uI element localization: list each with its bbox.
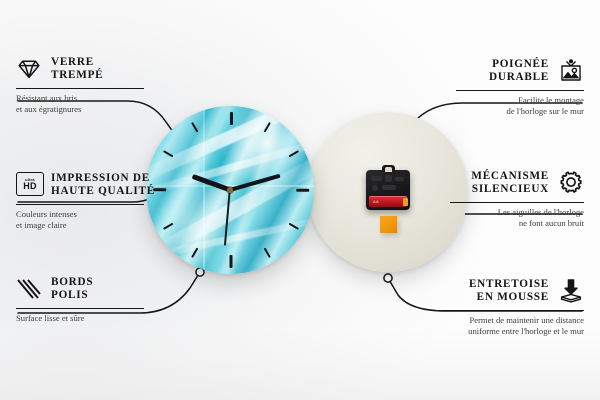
picture-hanger-icon (558, 58, 584, 84)
feature-sub-line1: Les aiguilles de l'horloge (450, 207, 584, 217)
feature-title-line1: MÉCANISME (471, 170, 549, 183)
feature-sub-line1: Facilite le montage (456, 95, 584, 105)
feature-title-line2: SILENCIEUX (471, 183, 549, 196)
feature-bords-polis: BORDS POLIS Surface lisse et sûre (16, 276, 144, 324)
feature-title-line2: TREMPÉ (51, 69, 103, 82)
feature-sub-line2: uniforme entre l'horloge et le mur (436, 326, 584, 336)
feature-rule (16, 204, 144, 205)
infographic-canvas: AA VERRE TREMPÉ Résistant aux bris et au… (0, 0, 600, 400)
feature-sub-line1: Surface lisse et sûre (16, 313, 144, 323)
feature-title-line1: BORDS (51, 276, 93, 289)
floor-shadow (0, 328, 600, 400)
feature-verre-trempe: VERRE TREMPÉ Résistant aux bris et aux é… (16, 56, 144, 114)
feature-sub-line2: et aux égratignures (16, 104, 144, 114)
clock-battery: AA (369, 196, 407, 207)
feature-impression-haute-qualite: ultra HD IMPRESSION DE HAUTE QUALITÉ Cou… (16, 172, 144, 230)
feature-mecanisme-silencieux: MÉCANISME SILENCIEUX Les aiguilles de l'… (450, 170, 584, 228)
feature-sub-line1: Permet de maintenir une distance (436, 315, 584, 325)
gear-icon (558, 170, 584, 196)
feature-sub-line2: ne font aucun bruit (450, 218, 584, 228)
foam-spacer-icon (558, 278, 584, 304)
feature-title-line1: ENTRETOISE (469, 278, 549, 291)
feature-poignee-durable: POIGNÉE DURABLE Facilite le montage de l… (456, 58, 584, 116)
wall-clock-back: AA (308, 112, 468, 272)
foam-spacer (380, 216, 397, 233)
ultra-hd-icon: ultra HD (16, 172, 42, 198)
feature-rule (456, 90, 584, 91)
polished-edges-icon (16, 276, 42, 302)
feature-title-line1: IMPRESSION DE (51, 172, 155, 185)
diamond-icon (16, 56, 42, 82)
leader-dot-entretoise (384, 274, 392, 282)
feature-title-line2: POLIS (51, 289, 93, 302)
feature-rule (16, 88, 144, 89)
feature-rule (436, 310, 584, 311)
hd-icon-text-bottom: HD (23, 182, 36, 191)
feature-rule (16, 308, 144, 309)
feature-entretoise-en-mousse: ENTRETOISE EN MOUSSE Permet de maintenir… (436, 278, 584, 336)
feature-title-line2: EN MOUSSE (469, 291, 549, 304)
clock-center-hub (227, 187, 233, 193)
feature-title-line2: HAUTE QUALITÉ (51, 185, 155, 198)
feature-sub-line2: de l'horloge sur le mur (456, 106, 584, 116)
feature-title-line1: VERRE (51, 56, 103, 69)
feature-rule (450, 202, 584, 203)
feature-sub-line1: Couleurs intenses (16, 209, 144, 219)
battery-label: AA (373, 199, 379, 204)
feature-title-line1: POIGNÉE (489, 58, 549, 71)
feature-title-line2: DURABLE (489, 71, 549, 84)
wall-clock-front (146, 106, 314, 274)
clock-movement: AA (366, 170, 410, 210)
feature-sub-line2: et image claire (16, 220, 144, 230)
feature-sub-line1: Résistant aux bris (16, 93, 144, 103)
